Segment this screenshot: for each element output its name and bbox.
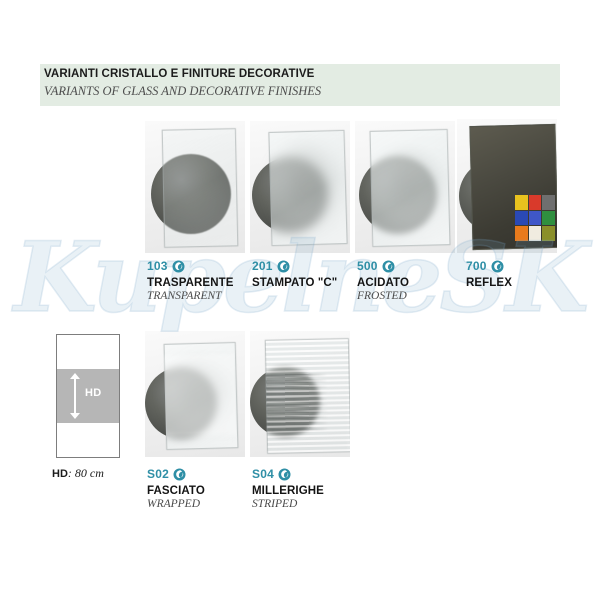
code-row: 500	[357, 258, 409, 274]
caption-stampato-c: 201 STAMPATO "C"	[252, 258, 337, 290]
code-row: S02	[147, 466, 205, 482]
finish-name: MILLERIGHE	[252, 485, 324, 497]
finish-name: TRASPARENTE	[147, 277, 234, 289]
section-header-band: VARIANTI CRISTALLO E FINITURE DECORATIVE…	[40, 64, 560, 106]
finish-code: S04	[252, 467, 274, 481]
checker-swatch	[529, 226, 542, 241]
glass-pane	[265, 338, 350, 454]
glass-finish-swirl-icon	[172, 260, 185, 273]
checker-swatch	[515, 226, 528, 241]
glass-sample-reflex[interactable]	[457, 119, 557, 253]
glass-finish-swirl-icon	[382, 260, 395, 273]
checker-swatch	[542, 226, 555, 241]
finish-name: REFLEX	[466, 277, 512, 289]
checker-swatch	[529, 195, 542, 210]
hd-band-label: HD	[85, 387, 102, 399]
checker-swatch	[529, 211, 542, 226]
finish-code: 500	[357, 259, 378, 273]
glass-pane	[162, 128, 238, 248]
hd-caption-key: HD	[52, 468, 68, 480]
page-subtitle: VARIANTS OF GLASS AND DECORATIVE FINISHE…	[44, 84, 321, 99]
code-row: S04	[252, 466, 324, 482]
finish-code: S02	[147, 467, 169, 481]
caption-reflex: 700 REFLEX	[466, 258, 512, 290]
glass-finish-swirl-icon	[491, 260, 504, 273]
finish-code: 700	[466, 259, 487, 273]
finish-name: STAMPATO "C"	[252, 277, 337, 289]
page-title: VARIANTI CRISTALLO E FINITURE DECORATIVE	[44, 68, 314, 80]
checker-swatch	[542, 211, 555, 226]
glass-finish-swirl-icon	[173, 468, 186, 481]
glass-sample-stampato-c[interactable]	[250, 121, 350, 253]
caption-millerighe: S04 MILLERIGHE STRIPED	[252, 466, 324, 510]
glass-pane	[164, 342, 239, 450]
hd-caption: HD: 80 cm	[52, 466, 104, 481]
glass-sample-transparent[interactable]	[145, 121, 245, 253]
hd-dimension-diagram: HD	[56, 334, 120, 458]
caption-fasciato: S02 FASCIATO WRAPPED	[147, 466, 205, 510]
checker-swatch	[515, 195, 528, 210]
checker-swatch	[515, 211, 528, 226]
glass-finish-swirl-icon	[278, 468, 291, 481]
glass-finish-swirl-icon	[277, 260, 290, 273]
hd-caption-value: : 80 cm	[68, 466, 104, 480]
color-checker	[515, 195, 555, 241]
finish-subtitle: WRAPPED	[147, 498, 205, 510]
glass-sample-millerighe[interactable]	[250, 331, 350, 457]
code-row: 700	[466, 258, 512, 274]
code-row: 103	[147, 258, 234, 274]
finish-subtitle: STRIPED	[252, 498, 324, 510]
finish-code: 201	[252, 259, 273, 273]
glass-sample-fasciato[interactable]	[145, 331, 245, 457]
checker-swatch	[542, 195, 555, 210]
glass-sample-acidato[interactable]	[355, 121, 455, 253]
code-row: 201	[252, 258, 337, 274]
finish-subtitle: TRANSPARENT	[147, 290, 234, 302]
glass-pane	[268, 130, 347, 246]
caption-transparent: 103 TRASPARENTE TRANSPARENT	[147, 258, 234, 302]
glass-pane	[370, 129, 451, 247]
finish-code: 103	[147, 259, 168, 273]
finish-name: ACIDATO	[357, 277, 409, 289]
finish-name: FASCIATO	[147, 485, 205, 497]
caption-acidato: 500 ACIDATO FROSTED	[357, 258, 409, 302]
finish-subtitle: FROSTED	[357, 290, 409, 302]
hd-double-arrow-icon	[69, 373, 81, 419]
